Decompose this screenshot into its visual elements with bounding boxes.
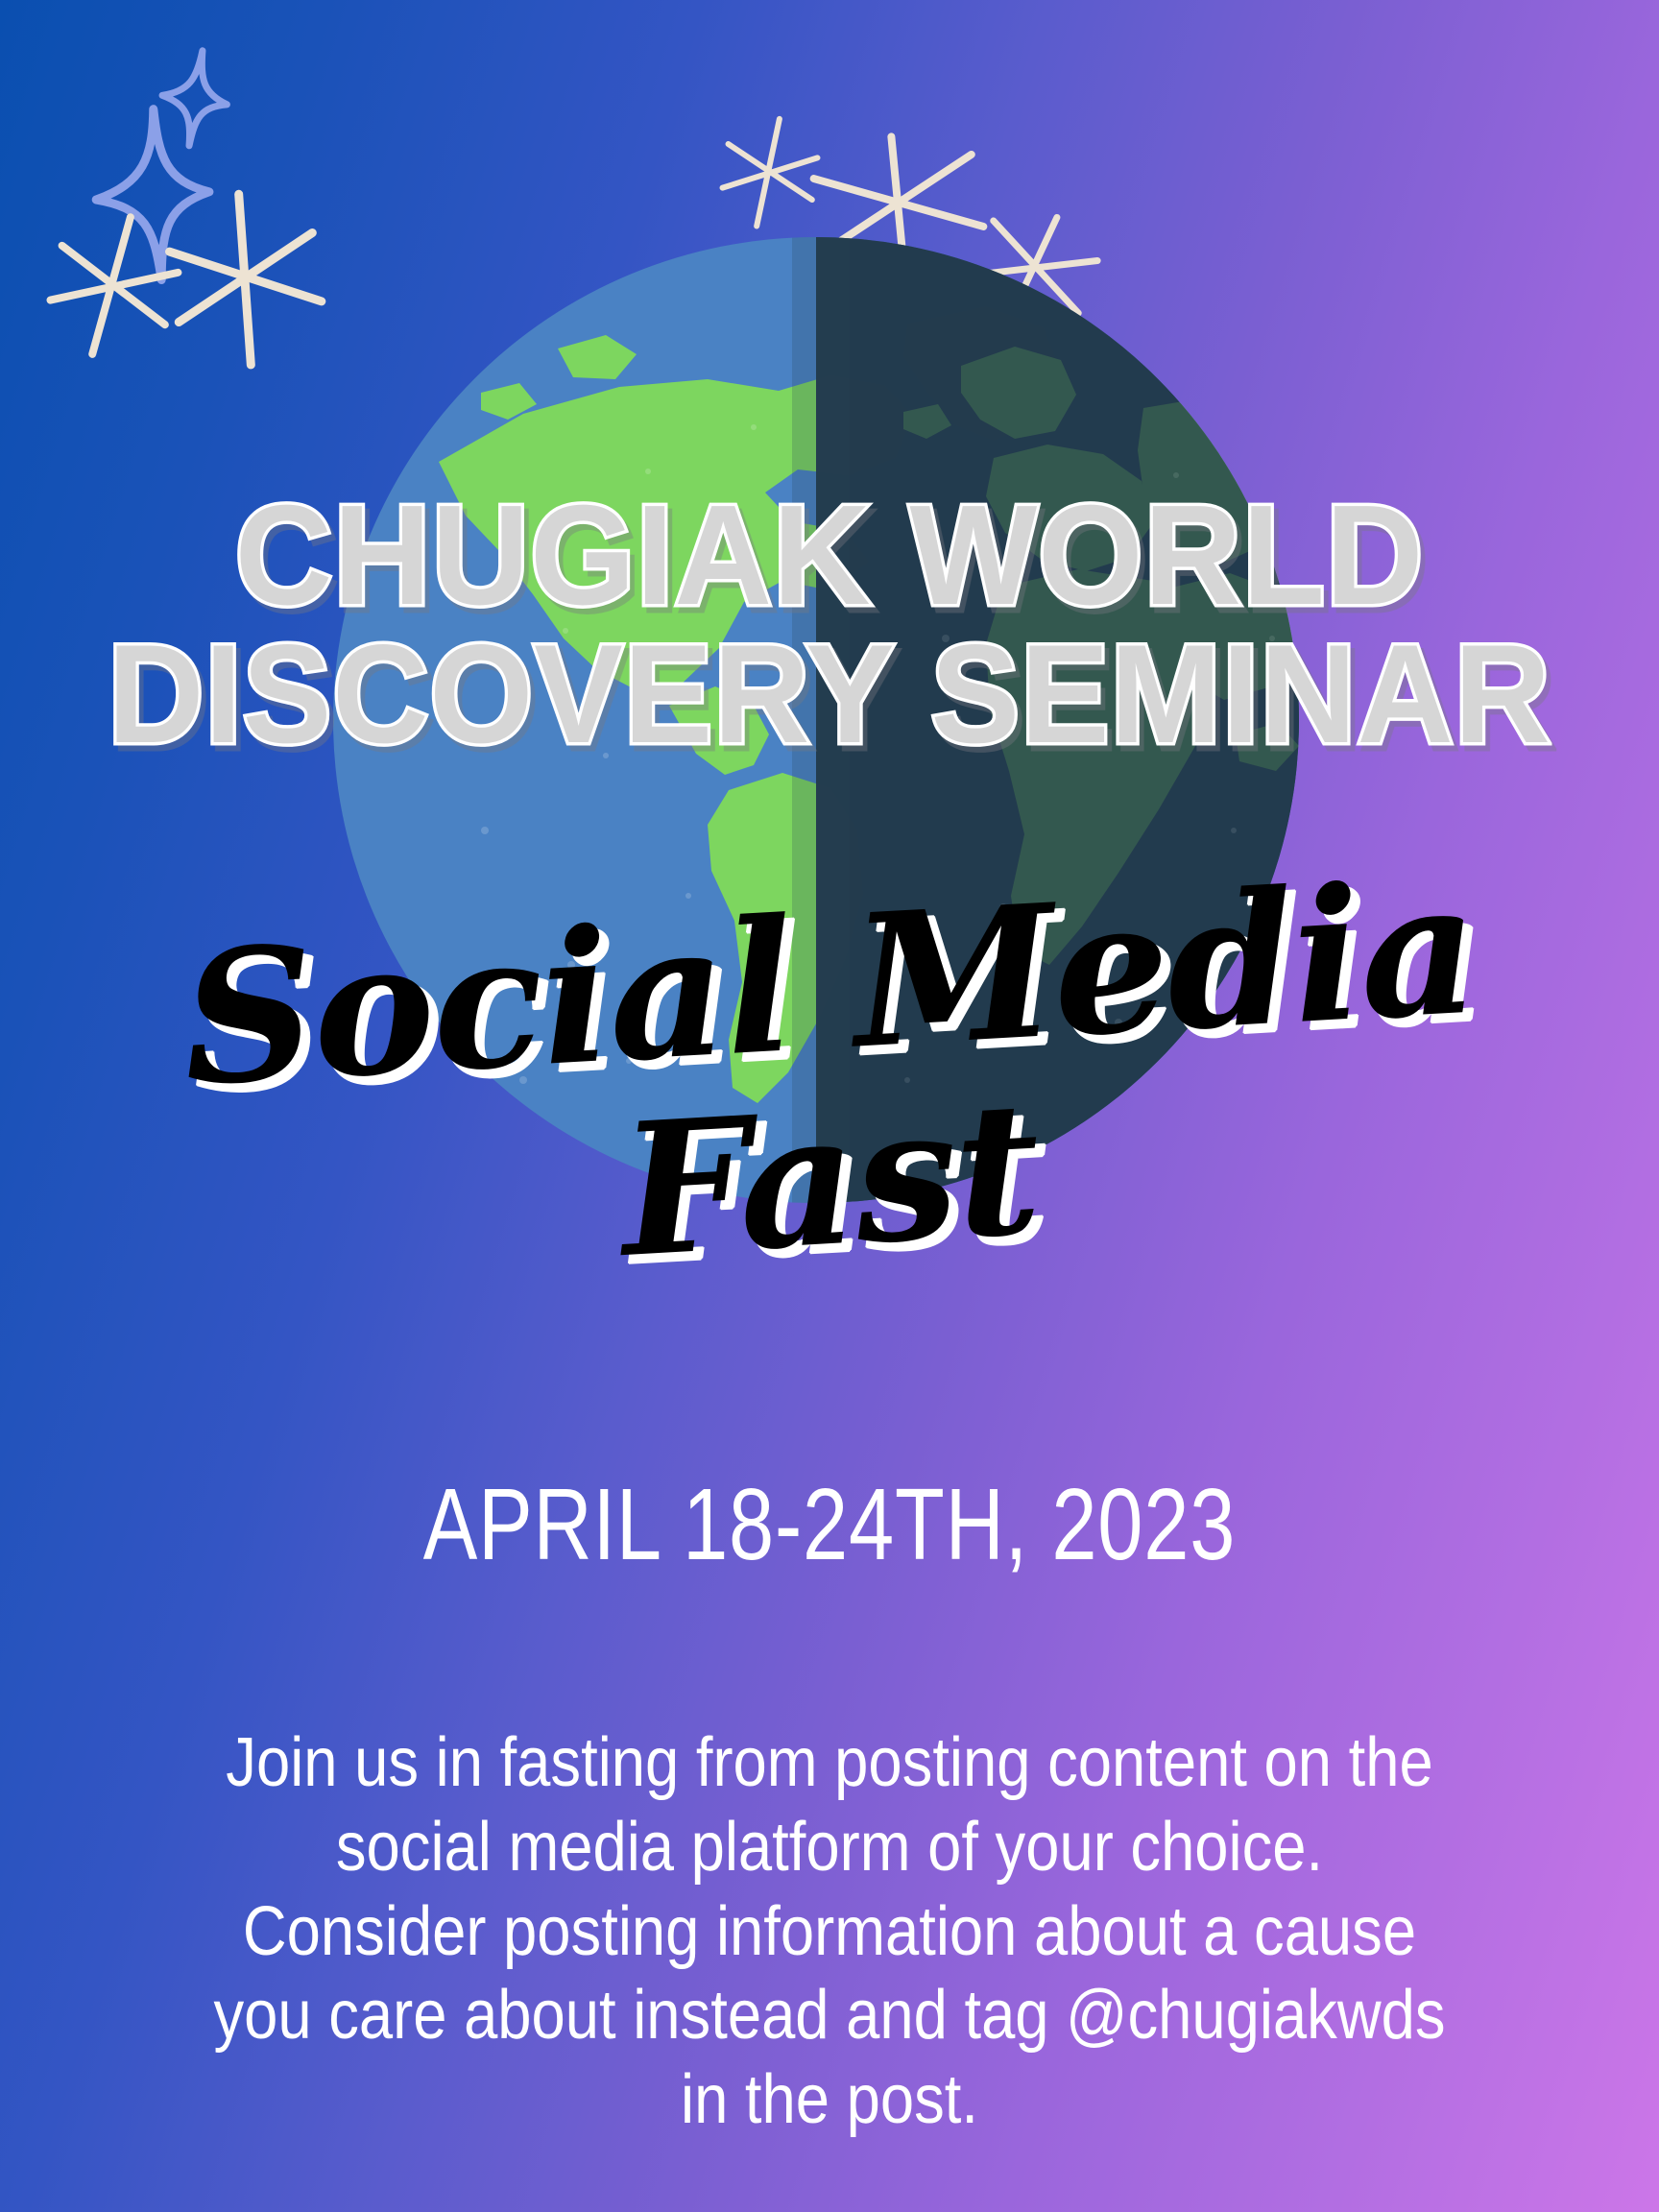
script-headline: Social Media Fast — [0, 893, 1659, 1271]
poster-title: CHUGIAK WORLD DISCOVERY SEMINAR — [0, 486, 1659, 762]
body-line: Consider posting information about a cau… — [146, 1890, 1513, 1975]
title-line-1: CHUGIAK WORLD — [41, 486, 1618, 625]
star-burst-icon — [156, 180, 336, 379]
event-date: APRIL 18-24TH, 2023 — [166, 1467, 1493, 1583]
body-line: in the post. — [146, 2058, 1513, 2143]
body-line-handle: you care about instead and tag @chugiakw… — [146, 1974, 1513, 2058]
star-burst-icon — [709, 106, 831, 241]
sparkle-outline-large-icon — [83, 100, 222, 291]
body-line: social media platform of your choice. — [146, 1806, 1513, 1890]
sparkle-outline-small-icon — [150, 41, 238, 155]
body-line: Join us in fasting from posting content … — [146, 1721, 1513, 1806]
poster-canvas: CHUGIAK WORLD DISCOVERY SEMINAR Social M… — [0, 0, 1659, 2212]
body-paragraph: Join us in fasting from posting content … — [53, 1721, 1606, 2143]
star-burst-icon — [30, 195, 198, 376]
title-line-2: DISCOVERY SEMINAR — [41, 625, 1618, 762]
